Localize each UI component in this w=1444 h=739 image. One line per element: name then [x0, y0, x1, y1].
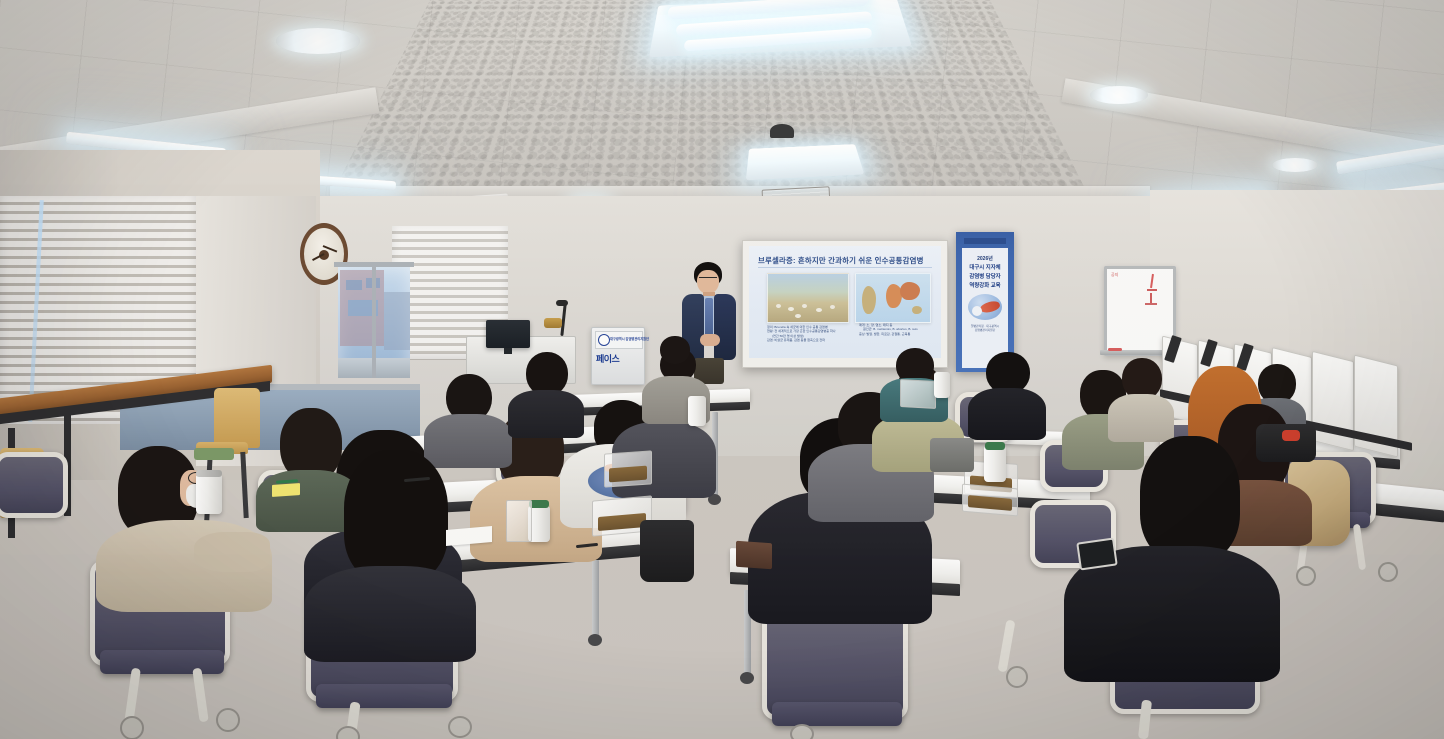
classroom-photo: 브루셀라증: 흔하지만 간과하기 쉬운 인수공통감염병 정의: Brucella…: [0, 0, 1444, 739]
podium-front-text: 페이스: [596, 352, 619, 365]
attendee-back-black-right: [968, 352, 1048, 438]
stool-backrest[interactable]: [214, 388, 260, 448]
slide-bullet: 증상: 발열, 발한, 피로감, 관절통, 근육통: [859, 332, 937, 336]
window-mullion: [372, 266, 376, 378]
field-sheep: [788, 307, 794, 311]
banner-line: 감염병 담당자: [969, 272, 1000, 280]
whiteboard-marker[interactable]: [1108, 348, 1122, 351]
attendee-top: [1108, 394, 1174, 442]
whiteboard-red-marking: [1145, 303, 1157, 305]
chair-leg: [1353, 524, 1366, 571]
ceiling-downlight: [276, 28, 360, 54]
tumbler[interactable]: [984, 446, 1006, 482]
banner-line: 역량강화 교육: [969, 281, 1000, 289]
chair-caster: [1006, 666, 1028, 688]
table-caster: [588, 634, 602, 646]
podium-org-text: 대구광역시 감염병관리지원단: [610, 336, 649, 341]
chair-leg: [192, 668, 208, 723]
podium: 대구광역시 감염병관리지원단 페이스: [591, 327, 645, 385]
tablet-device[interactable]: [1076, 537, 1118, 570]
attendee-top: [304, 566, 476, 662]
snack-bag[interactable]: [900, 379, 936, 409]
snack-contents: [609, 466, 647, 483]
table-leg: [592, 560, 599, 638]
snack-contents: [598, 513, 646, 531]
chair-caster: [120, 716, 144, 739]
slide-image-world-map: [855, 273, 931, 323]
snack-bag[interactable]: [604, 450, 652, 487]
map-landmass-asia: [900, 282, 920, 300]
presenter-jacket-right: [714, 294, 736, 360]
tumbler-cap-green: [985, 442, 1005, 450]
chair-seat[interactable]: [316, 684, 452, 708]
attendee-hair: [344, 450, 448, 582]
tote-bag[interactable]: [930, 438, 974, 472]
chair-caster: [790, 724, 814, 739]
attendee-arm: [194, 532, 270, 572]
tumbler[interactable]: [688, 396, 706, 426]
tumbler-lid: [196, 470, 222, 477]
table-caster: [740, 672, 754, 684]
map-landmass-oceania: [912, 306, 922, 314]
tumbler-cap-green: [529, 500, 549, 508]
chair-caster: [216, 708, 240, 732]
tumbler[interactable]: [196, 474, 222, 514]
slide-bullet: 감염: 비살균 유제품, 감염 동물 접촉으로 전파: [767, 338, 851, 342]
building-exterior-2: [384, 292, 410, 350]
event-banner: 2026년 대구시 지자체 감염병 담당자 역량강화 교육 질병관리청 · 대구…: [956, 232, 1014, 372]
banner-illustration: [968, 294, 1002, 320]
banner-line: 2026년: [977, 255, 993, 262]
chair-backrest[interactable]: [0, 452, 68, 518]
field-sheep: [830, 305, 835, 309]
attendee-top: [508, 390, 584, 438]
banner-blob-white: [972, 306, 982, 316]
attendee-right-pale: [1108, 358, 1178, 438]
slide-title-underline: [758, 267, 932, 268]
book[interactable]: [736, 541, 772, 570]
institute-emblem-icon: [598, 334, 610, 346]
snack-contents: [968, 495, 1012, 511]
snack-bag[interactable]: [506, 500, 532, 542]
chair-leg: [998, 620, 1016, 673]
slide-bullets-left: 정의: Brucella 속 세균에 의한 인수 공통 감염병 현황: 전 세계…: [767, 325, 851, 343]
attendee-left-ponytail: [508, 352, 588, 434]
whiteboard-red-marking: [1150, 293, 1152, 303]
slide-bullets-right: 매개: 소, 양, 염소, 돼지 등 원인균: B. melitensis, B…: [859, 323, 937, 336]
microphone-head: [556, 300, 568, 306]
map-landmass-americas: [862, 286, 876, 314]
slide-title: 브루셀라증: 흔하지만 간과하기 쉬운 인수공통감염병: [758, 255, 938, 266]
chair-caster: [1296, 566, 1316, 586]
attendee-hair: [1140, 436, 1240, 562]
banner-footer-line: 감염병관리지원단: [975, 328, 996, 332]
window-header: [334, 262, 414, 267]
whiteboard-red-marking: [1147, 289, 1157, 291]
ceiling-fluorescent-fixture-second: [746, 144, 864, 180]
sticky-notepad[interactable]: [272, 483, 300, 497]
chair-seat[interactable]: [100, 650, 224, 674]
slide-image-sheep-field: [767, 273, 849, 323]
banner-content-panel: 2026년 대구시 지자체 감염병 담당자 역량강화 교육 질병관리청 · 대구…: [962, 248, 1008, 368]
snack-bag[interactable]: [962, 484, 1018, 517]
desk-lamp-shade: [544, 318, 562, 328]
building-window: [346, 280, 362, 290]
field-sheep: [776, 304, 781, 308]
attendee-hair: [660, 336, 690, 364]
attendee-back-green: [646, 336, 702, 394]
chair-seat[interactable]: [772, 702, 902, 726]
banner-top-bar: [964, 238, 1006, 244]
ceiling-downlight: [1272, 158, 1318, 172]
whiteboard-note-top-left: 공지: [1111, 272, 1118, 278]
field-sheep: [802, 304, 807, 308]
field-sheep: [795, 314, 801, 318]
attendee-bottom-left: [300, 450, 480, 650]
handbag[interactable]: [640, 520, 694, 582]
ceiling-downlight: [1090, 86, 1148, 104]
presenter-glasses: [699, 277, 717, 283]
chair-caster: [1378, 562, 1398, 582]
backpack-red-detail: [1282, 430, 1300, 441]
presenter-hands: [700, 334, 720, 346]
tumbler[interactable]: [934, 372, 950, 398]
chair-caster: [448, 716, 472, 738]
control-monitor[interactable]: [486, 320, 530, 348]
presentation-slide: 브루셀라증: 흔하지만 간과하기 쉬운 인수공통감염병 정의: Brucella…: [749, 246, 941, 358]
attendee-top: [968, 388, 1046, 440]
banner-blob-red: [979, 299, 1001, 314]
whiteboard-red-marking: [1150, 274, 1154, 288]
field-sheep: [816, 308, 822, 312]
banner-line: 대구시 지자체: [969, 263, 1000, 271]
ceiling-projector-mount: [770, 124, 794, 138]
